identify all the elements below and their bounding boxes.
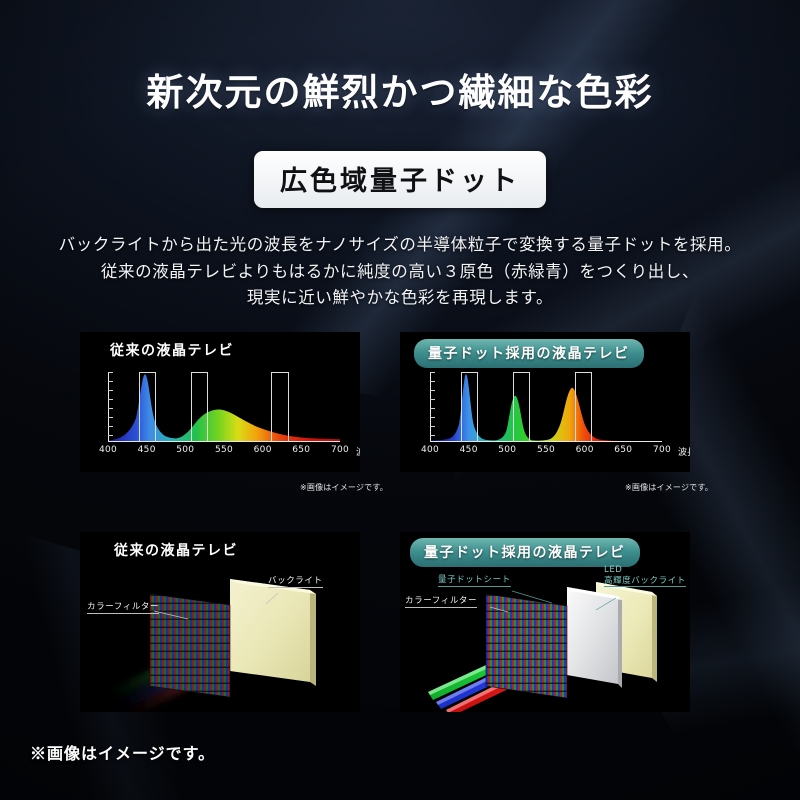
x-tick: 450 — [138, 445, 156, 455]
x-tick: 450 — [460, 445, 478, 455]
x-tick: 700 — [331, 445, 349, 455]
filter-band-blue — [461, 372, 478, 442]
filter-band-green — [191, 372, 208, 442]
x-tick: 400 — [99, 445, 117, 455]
x-tick: 600 — [576, 445, 594, 455]
x-tick: 400 — [421, 445, 439, 455]
filter-band-green — [513, 372, 530, 442]
label-color-filter: カラーフィルター — [87, 600, 159, 614]
spectrum-right-note: ※画像はイメージです。 — [625, 482, 713, 493]
x-tick: 500 — [176, 445, 194, 455]
x-tick: 700 — [653, 445, 671, 455]
lead-line-2: 従来の液晶テレビよりもはるかに純度の高い３原色（赤緑青）をつくり出し、 — [0, 259, 800, 286]
label-color-filter: カラーフィルター — [405, 594, 477, 608]
filter-band-blue — [139, 372, 156, 442]
spectrum-left-y-axis — [108, 372, 109, 442]
x-tick: 550 — [215, 445, 233, 455]
spectrum-left-x-ticks: 400 450 500 550 600 650 700 — [108, 445, 340, 457]
label-qd-sheet: 量子ドットシート — [438, 573, 511, 587]
spectrum-right-plot: 400 450 500 550 600 650 700 波長 (nm) — [430, 372, 662, 442]
label-led-backlight: LED 高輝度バックライト — [604, 565, 686, 588]
x-tick: 600 — [254, 445, 272, 455]
page-title: 新次元の鮮烈かつ繊細な色彩 — [0, 62, 800, 116]
feature-badge: 広色域量子ドット — [254, 151, 546, 208]
spectrum-left-title: 従来の液晶テレビ — [110, 340, 234, 360]
x-tick: 650 — [614, 445, 632, 455]
label-led-line1: LED — [604, 565, 686, 576]
spectrum-right-x-ticks: 400 450 500 550 600 650 700 — [430, 445, 662, 457]
filter-band-red — [575, 372, 592, 442]
label-led-line2: 高輝度バックライト — [604, 576, 686, 588]
spectrum-right-title: 量子ドット採用の液晶テレビ — [414, 339, 644, 368]
label-backlight: バックライト — [268, 574, 323, 588]
footer-note: ※画像はイメージです。 — [30, 740, 215, 764]
spectrum-right-y-axis — [430, 372, 431, 442]
spectrum-panel-conventional: 従来の液晶テレビ — [80, 332, 360, 472]
diagram-left-graphic — [80, 532, 360, 712]
lead-line-3: 現実に近い鮮やかな色彩を再現します。 — [0, 285, 800, 312]
spectrum-left-note: ※画像はイメージです。 — [300, 482, 388, 493]
filter-band-red — [271, 372, 289, 442]
spectrum-right-axis-label: 波長 (nm) — [678, 445, 690, 458]
promo-page: 新次元の鮮烈かつ繊細な色彩 広色域量子ドット バックライトから出た光の波長をナノ… — [0, 0, 800, 800]
x-tick: 500 — [498, 445, 516, 455]
structure-diagram-quantumdot: 量子ドット採用の液晶テレビ — [400, 532, 690, 712]
x-tick: 550 — [537, 445, 555, 455]
spectrum-panel-quantumdot: 量子ドット採用の液晶テレビ — [400, 332, 690, 472]
x-tick: 650 — [292, 445, 310, 455]
lead-paragraph: バックライトから出た光の波長をナノサイズの半導体粒子で変換する量子ドットを採用。… — [0, 232, 800, 312]
diagram-right-graphic — [400, 532, 690, 712]
lead-line-1: バックライトから出た光の波長をナノサイズの半導体粒子で変換する量子ドットを採用。 — [0, 232, 800, 259]
structure-diagram-conventional: 従来の液晶テレビ — [80, 532, 360, 712]
spectrum-left-axis-label: 波長 (nm) — [356, 445, 360, 458]
spectrum-left-plot: 400 450 500 550 600 650 700 波長 (nm) — [108, 372, 340, 442]
